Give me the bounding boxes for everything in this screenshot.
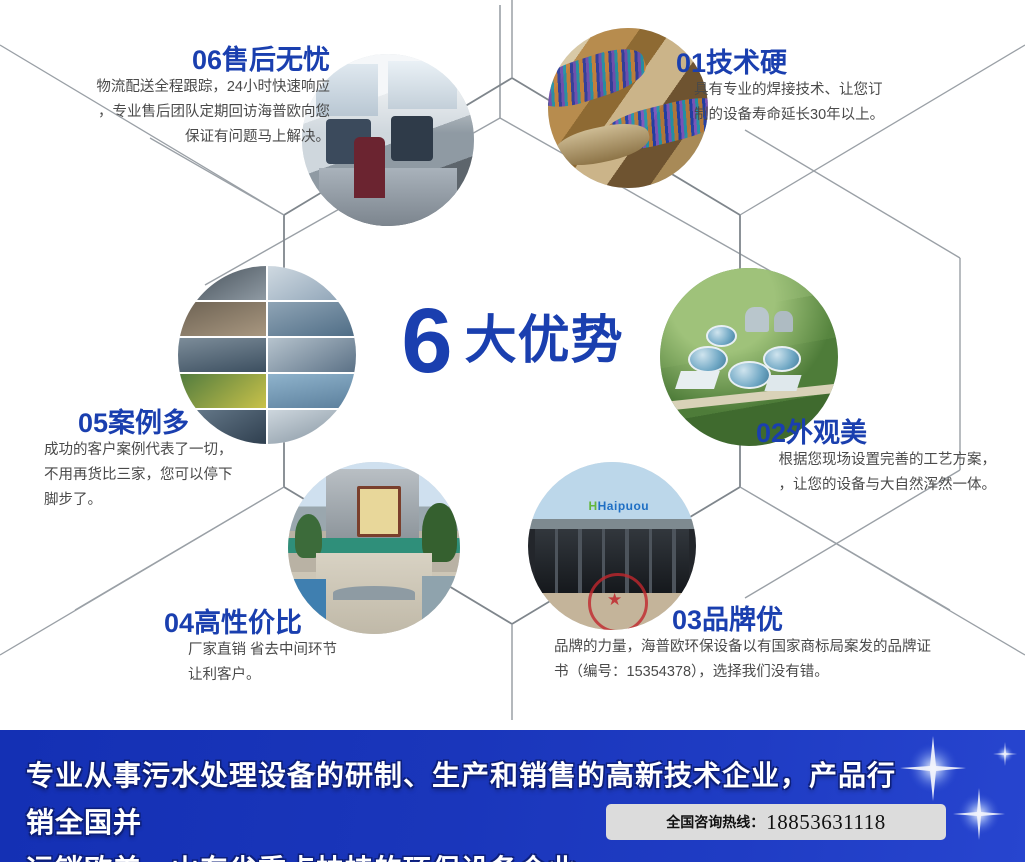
advantage-body-03: 品牌的力量，海普欧环保设备以有国家商标局案发的品牌证 书（编号：15354378… — [554, 635, 1022, 685]
advantage-body-02-line1: 根据您现场设置完善的工艺方案， — [726, 448, 996, 473]
black-tank-equipment-photo: HHaipuou ★ — [528, 462, 696, 630]
advantage-body-05: 成功的客户案例代表了一切， 不用再货比三家，您可以停下 脚步了。 — [44, 438, 398, 513]
advantage-block-06: 06售后无忧 物流配送全程跟踪，24小时快速响应 ，专业售后团队定期回访海普欧向… — [10, 45, 330, 150]
advantage-body-05-line1: 成功的客户案例代表了一切， — [44, 438, 398, 463]
advantage-body-02: 根据您现场设置完善的工艺方案， ，让您的设备与大自然浑然一体。 — [726, 448, 996, 498]
advantage-block-03: 03品牌优 品牌的力量，海普欧环保设备以有国家商标局案发的品牌证 书（编号：15… — [672, 605, 1022, 685]
advantage-body-05-line3: 脚步了。 — [44, 488, 398, 513]
hotline-number: 18853631118 — [766, 810, 885, 835]
advantage-body-06: 物流配送全程跟踪，24小时快速响应 ，专业售后团队定期回访海普欧向您 保证有问题… — [10, 75, 330, 150]
advantage-heading-02: 02外观美 — [756, 418, 1025, 448]
advantage-body-05-line2: 不用再货比三家，您可以停下 — [44, 463, 398, 488]
advantage-body-06-line2: ，专业售后团队定期回访海普欧向您 — [10, 100, 330, 125]
outer-ring-right-upper-diag — [745, 130, 960, 258]
center-label-text: 大优势 — [465, 313, 624, 369]
center-number: 6 — [401, 295, 450, 387]
advantage-block-02: 02外观美 根据您现场设置完善的工艺方案， ，让您的设备与大自然浑然一体。 — [756, 418, 1025, 498]
photo-image-03: HHaipuou ★ — [528, 462, 696, 630]
bottom-banner: 专业从事污水处理设备的研制、生产和销售的高新技术企业，产品行销全国并 远销欧美，… — [0, 730, 1025, 862]
advantage-heading-05: 05案例多 — [78, 408, 398, 438]
advantage-body-03-line2: 书（编号：15354378），选择我们没有错。 — [554, 660, 1022, 685]
advantage-heading-01: 01技术硬 — [676, 48, 1006, 78]
hotline-label: 全国咨询热线： — [666, 812, 764, 832]
guide-line-right-bottom — [740, 487, 950, 610]
advantage-block-04: 04高性价比 厂家直销 省去中间环节 让利客户。 — [164, 608, 494, 688]
advantage-heading-04: 04高性价比 — [164, 608, 494, 638]
advantage-block-01: 01技术硬 具有专业的焊接技术、让您订 制的设备寿命延长30年以上。 — [676, 48, 1006, 128]
advantage-heading-06: 06售后无忧 — [10, 45, 330, 75]
advantage-body-01-line2: 制的设备寿命延长30年以上。 — [694, 103, 1006, 128]
advantage-block-05: 05案例多 成功的客户案例代表了一切， 不用再货比三家，您可以停下 脚步了。 — [78, 408, 398, 513]
advantage-body-03-line1: 品牌的力量，海普欧环保设备以有国家商标局案发的品牌证 — [554, 635, 1022, 660]
advantage-body-04-line2: 让利客户。 — [188, 663, 494, 688]
stamp-star-icon: ★ — [607, 590, 622, 610]
advantage-body-04: 厂家直销 省去中间环节 让利客户。 — [164, 638, 494, 688]
advantage-body-01: 具有专业的焊接技术、让您订 制的设备寿命延长30年以上。 — [676, 78, 1006, 128]
advantage-body-06-line1: 物流配送全程跟踪，24小时快速响应 — [10, 75, 330, 100]
advantage-body-06-line3: 保证有问题马上解决。 — [10, 125, 330, 150]
infographic-root: 6 大优势 HHaipuou ★ — [0, 0, 1025, 862]
advantage-body-02-line2: ，让您的设备与大自然浑然一体。 — [726, 473, 996, 498]
center-label: 6 大优势 — [380, 288, 645, 393]
advantage-body-04-line1: 厂家直销 省去中间环节 — [188, 638, 494, 663]
advantage-heading-03: 03品牌优 — [672, 605, 1022, 635]
banner-text-line2: 远销欧美，山东省重点扶持的环保设备企业。 — [26, 846, 906, 862]
advantage-body-01-line1: 具有专业的焊接技术、让您订 — [694, 78, 1006, 103]
haipuou-logo-icon: HHaipuou — [588, 499, 649, 513]
hotline-box[interactable]: 全国咨询热线： 18853631118 — [606, 804, 946, 840]
